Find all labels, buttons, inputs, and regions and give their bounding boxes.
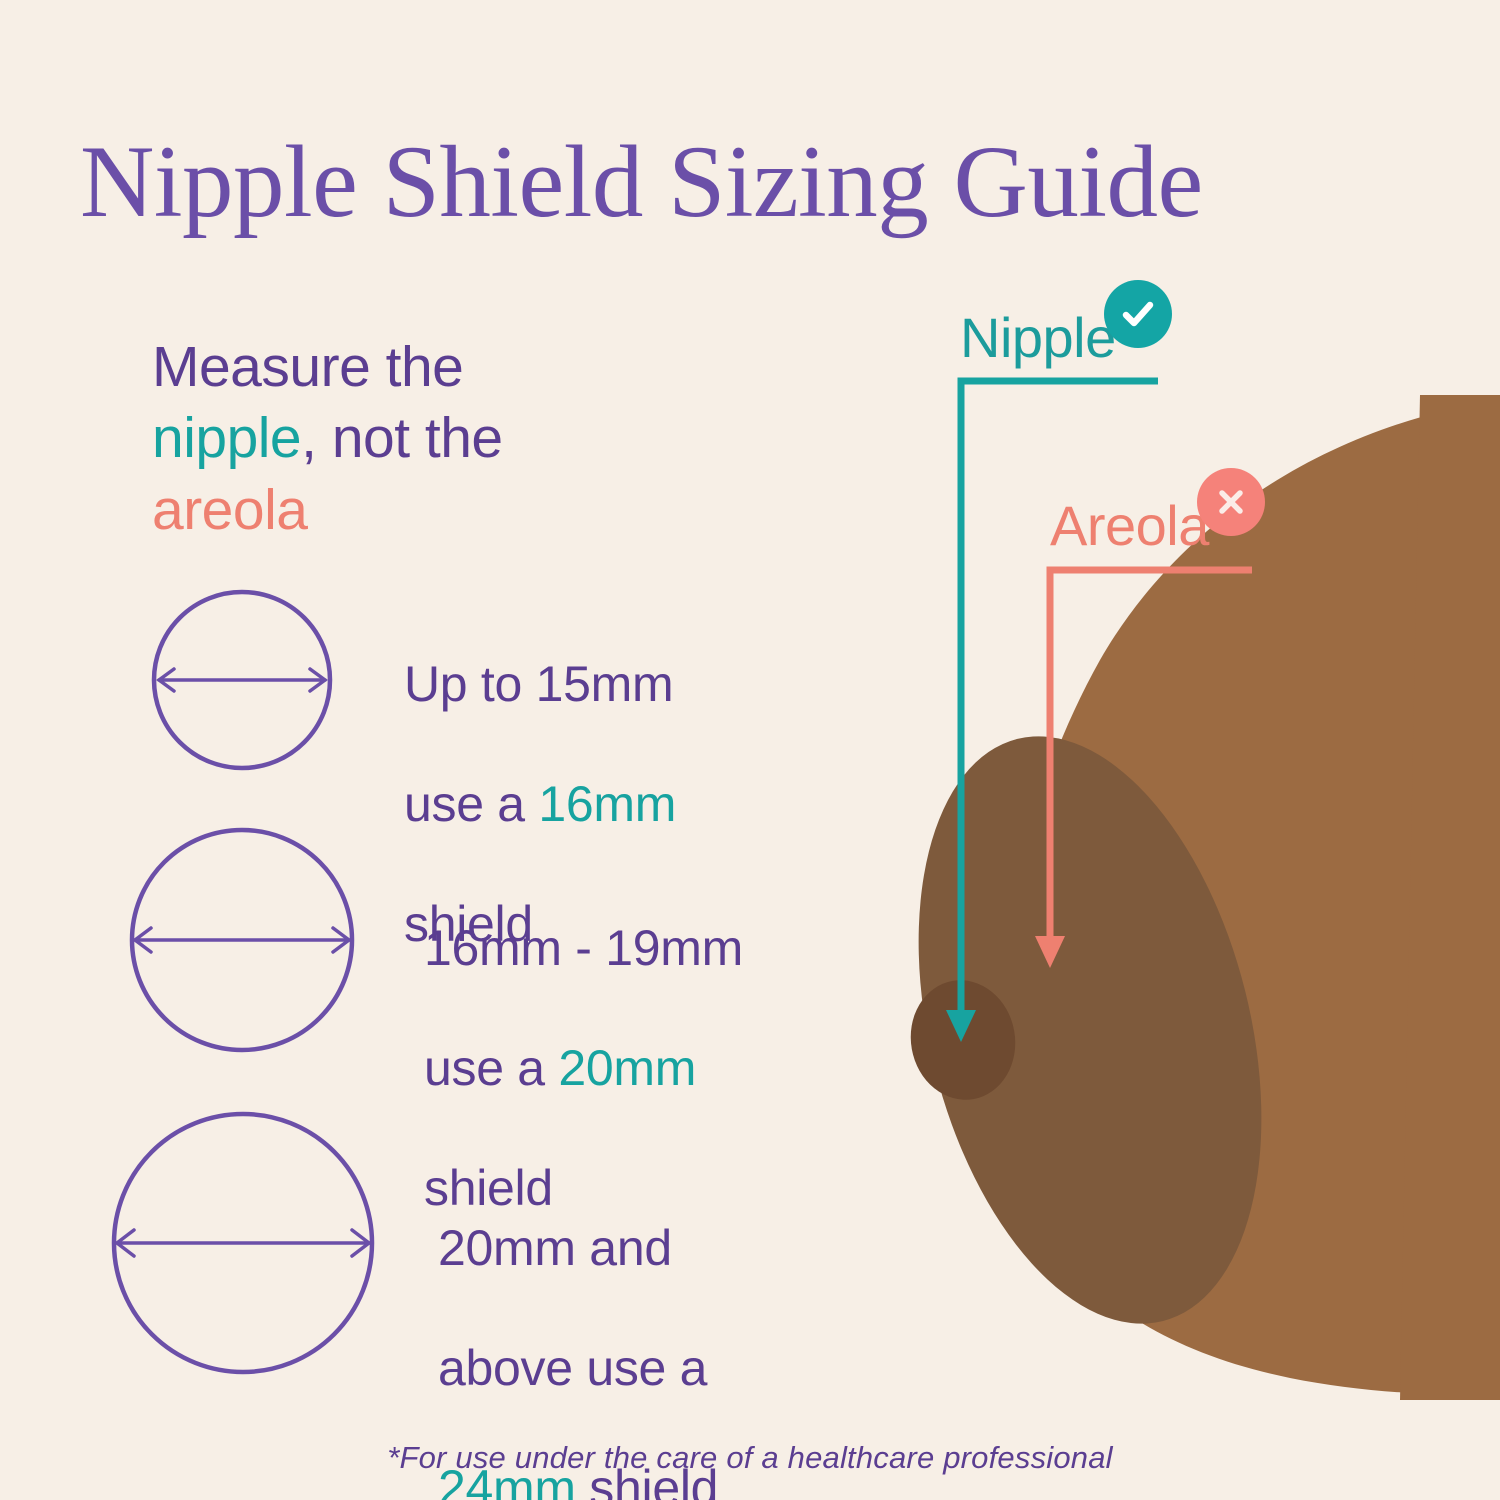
size-range-2: 16mm - 19mm (424, 920, 743, 976)
subtitle-line-2: nipple, not the (152, 403, 503, 474)
size-usea-1: use a (404, 776, 538, 832)
callout-nipple: Nipple (960, 310, 1172, 366)
callout-nipple-label: Nipple (960, 310, 1116, 366)
page-title: Nipple Shield Sizing Guide (80, 128, 1203, 236)
subtitle-text-measure: Measure the (152, 335, 463, 399)
size-range-3: 20mm and (438, 1220, 672, 1276)
diameter-arrow (135, 928, 349, 952)
callout-areola: Areola (1050, 498, 1265, 554)
size-range-3b: above use a (438, 1340, 707, 1396)
measure-circle-medium (128, 826, 356, 1059)
size-range-1: Up to 15mm (404, 656, 673, 712)
subtitle-block: Measure the nipple, not the areola (152, 332, 503, 546)
subtitle-line-3: areola (152, 475, 503, 546)
footer-disclaimer: *For use under the care of a healthcare … (0, 1440, 1500, 1476)
diameter-arrow (159, 669, 325, 691)
measure-circle-large (110, 1110, 376, 1381)
diameter-arrow (117, 1230, 369, 1256)
measure-circle-small (150, 588, 334, 777)
subtitle-highlight-areola: areola (152, 478, 307, 542)
subtitle-text-notthe: , not the (301, 406, 503, 470)
subtitle-line-1: Measure the (152, 332, 503, 403)
sizing-guide-infographic: Nipple Shield Sizing Guide Measure the n… (0, 0, 1500, 1500)
size-usea-2: use a (424, 1040, 558, 1096)
size-shield-2: 20mm (558, 1040, 696, 1096)
check-icon (1104, 280, 1172, 348)
callout-areola-label: Areola (1050, 498, 1209, 554)
subtitle-highlight-nipple: nipple (152, 406, 301, 470)
size-shield-1: 16mm (538, 776, 676, 832)
x-icon (1197, 468, 1265, 536)
